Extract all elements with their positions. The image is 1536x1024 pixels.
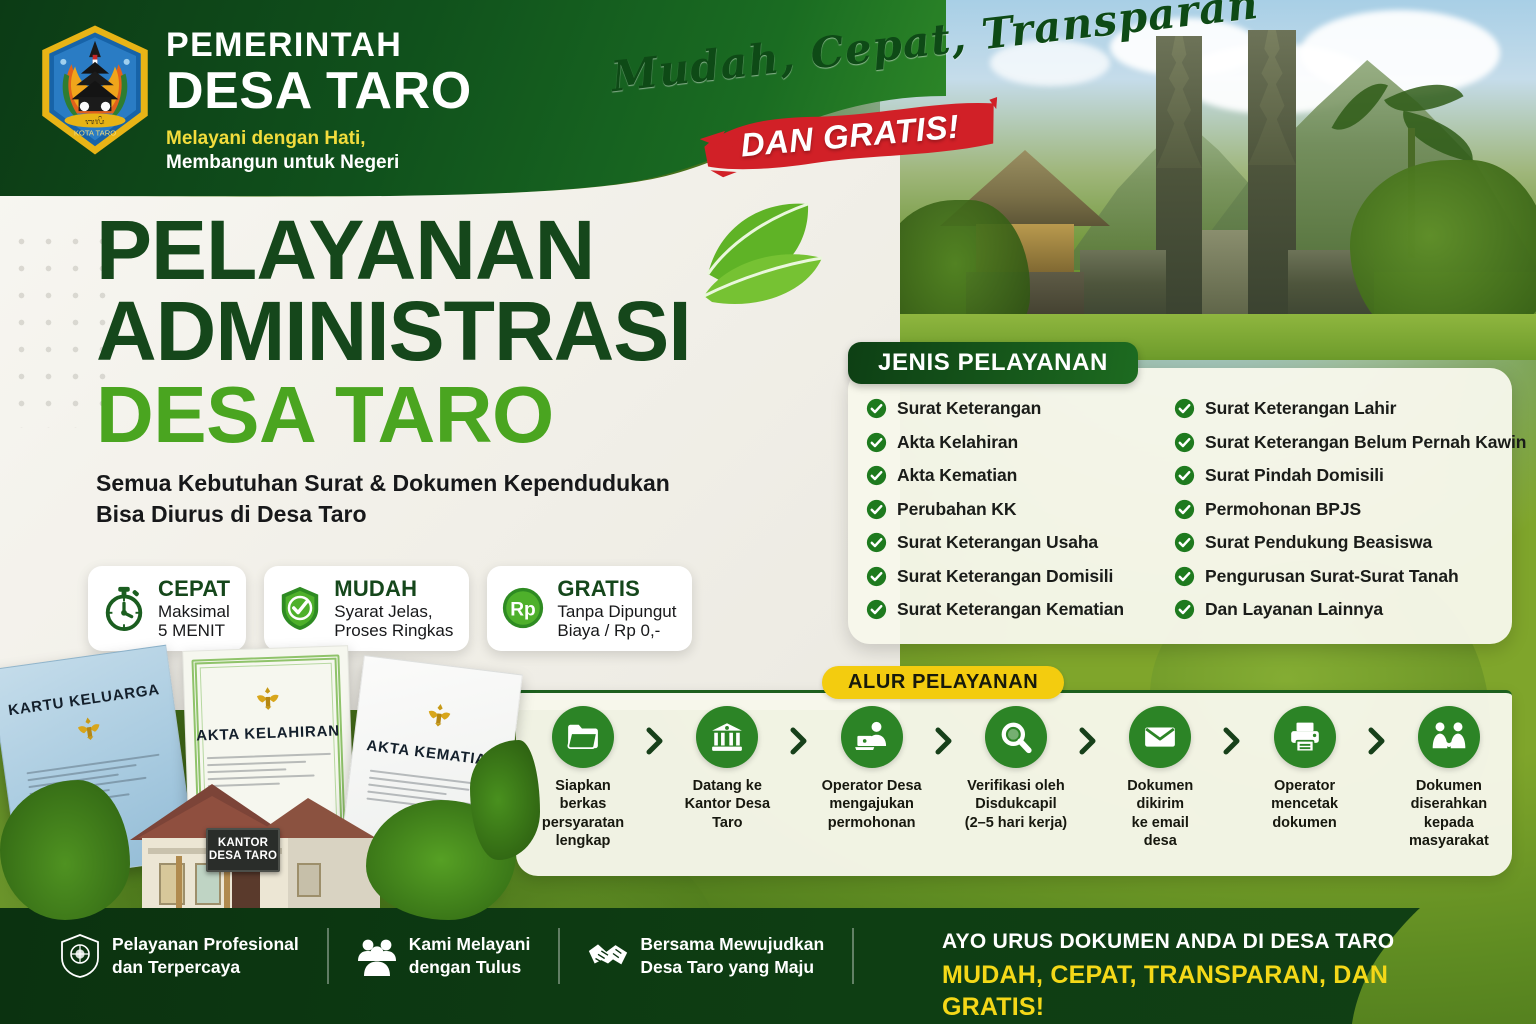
- service-label: Surat Keterangan Kematian: [897, 599, 1124, 620]
- envelope-icon: [1143, 720, 1177, 754]
- service-label: Surat Keterangan Usaha: [897, 532, 1098, 553]
- motto-line-1: Melayani dengan Hati,: [166, 127, 472, 152]
- flow-step-label: Operator Desamengajukanpermohonan: [822, 777, 922, 832]
- trust-line-2: Desa Taro yang Maju: [640, 956, 824, 979]
- service-label: Permohonan BPJS: [1205, 499, 1361, 520]
- trust-line-2: dengan Tulus: [409, 956, 531, 979]
- flow-step-2[interactable]: Datang keKantor DesaTaro: [674, 706, 780, 832]
- subtitle-line-1: Semua Kebutuhan Surat & Dokumen Kependud…: [96, 468, 816, 500]
- service-item[interactable]: Permohonan BPJS: [1174, 493, 1510, 527]
- garuda-icon: [425, 700, 454, 729]
- shield-check-icon: [277, 585, 323, 631]
- flow-step-4[interactable]: Verifikasi olehDisdukcapil(2–5 hari kerj…: [963, 706, 1069, 832]
- stopwatch-icon: [101, 585, 147, 631]
- trust-item-professional: Pelayanan Profesional dan Terpercaya: [60, 933, 327, 980]
- flow-steps: Siapkan berkaspersyaratanlengkap Datang …: [524, 706, 1508, 866]
- flow-step-label: Dokumendiserahkan kepadamasyarakat: [1396, 777, 1502, 850]
- shield-emblem-icon: [60, 934, 100, 978]
- service-label: Pengurusan Surat-Surat Tanah: [1205, 566, 1459, 587]
- trust-item-sincere: Kami Melayani dengan Tulus: [329, 933, 559, 980]
- flow-chevron-icon: [644, 726, 666, 761]
- trust-line-2: dan Terpercaya: [112, 956, 299, 979]
- check-circle-icon: [866, 465, 887, 486]
- service-item[interactable]: Surat Keterangan Belum Pernah Kawin: [1174, 426, 1510, 460]
- svg-text:ᬩᬮᬶ: ᬩᬮᬶ: [85, 116, 105, 126]
- service-item[interactable]: Surat Pindah Domisili: [1174, 459, 1510, 493]
- check-circle-icon: [1174, 532, 1195, 553]
- check-circle-icon: [1174, 432, 1195, 453]
- garuda-icon: [74, 714, 103, 743]
- services-panel-header: JENIS PELAYANAN: [848, 342, 1138, 384]
- service-label: Akta Kematian: [897, 465, 1017, 486]
- poster-root: ᬩᬮᬶ KOTA TARO PEMERINTAH DESA TARO Melay…: [0, 0, 1536, 1024]
- flow-header-label: ALUR PELAYANAN: [848, 671, 1038, 694]
- service-label: Perubahan KK: [897, 499, 1016, 520]
- badge-line-2: Proses Ringkas: [334, 621, 453, 641]
- service-label: Surat Pendukung Beasiswa: [1205, 532, 1432, 553]
- flow-step-label: Siapkan berkaspersyaratanlengkap: [530, 777, 636, 850]
- office-sign-line-1: KANTOR: [218, 837, 268, 850]
- flow-chevron-icon: [1077, 726, 1099, 761]
- motto-line-2: Membangun untuk Negeri: [166, 151, 472, 176]
- service-item[interactable]: Akta Kematian: [866, 459, 1166, 493]
- check-circle-icon: [866, 432, 887, 453]
- badge-gratis[interactable]: Rp GRATIS Tanpa Dipungut Biaya / Rp 0,-: [487, 566, 692, 651]
- leaf-decoration: [690, 198, 840, 318]
- footer-cta: AYO URUS DOKUMEN ANDA DI DESA TARO MUDAH…: [942, 928, 1412, 1023]
- badge-line-2: 5 MENIT: [158, 621, 230, 641]
- flow-chevron-icon: [1221, 726, 1243, 761]
- title-line-3: DESA TARO: [96, 377, 816, 452]
- service-label: Surat Keterangan Belum Pernah Kawin: [1205, 432, 1526, 453]
- cta-line-2: MUDAH, CEPAT, TRANSPARAN, DAN GRATIS!: [942, 959, 1412, 1023]
- flow-step-3[interactable]: Operator Desamengajukanpermohonan: [819, 706, 925, 832]
- government-title-block: PEMERINTAH DESA TARO Melayani dengan Hat…: [166, 28, 472, 176]
- service-label: Akta Kelahiran: [897, 432, 1018, 453]
- flow-step-1[interactable]: Siapkan berkaspersyaratanlengkap: [530, 706, 636, 850]
- check-circle-icon: [1174, 398, 1195, 419]
- footer-divider: [852, 928, 854, 984]
- badge-mudah[interactable]: MUDAH Syarat Jelas, Proses Ringkas: [264, 566, 469, 651]
- badge-title: CEPAT: [158, 576, 230, 602]
- check-circle-icon: [1174, 499, 1195, 520]
- service-label: Surat Pindah Domisili: [1205, 465, 1384, 486]
- flow-step-7[interactable]: Dokumendiserahkan kepadamasyarakat: [1396, 706, 1502, 850]
- trust-line-1: Pelayanan Profesional: [112, 933, 299, 956]
- badge-line-1: Syarat Jelas,: [334, 602, 453, 622]
- flow-panel-header: ALUR PELAYANAN: [822, 666, 1064, 699]
- services-list: Surat Keterangan Surat Keterangan Lahir …: [866, 392, 1502, 627]
- trust-line-1: Bersama Mewujudkan: [640, 933, 824, 956]
- flow-step-label: Dokumen dikirimke emaildesa: [1107, 777, 1213, 850]
- badge-line-2: Biaya / Rp 0,-: [557, 621, 676, 641]
- feature-badges: CEPAT Maksimal 5 MENIT MUDAH Syarat Jela…: [88, 566, 692, 651]
- service-label: Surat Keterangan Domisili: [897, 566, 1113, 587]
- flow-chevron-icon: [788, 726, 810, 761]
- badge-title: MUDAH: [334, 576, 453, 602]
- printer-icon: [1288, 720, 1322, 754]
- gov-name-desa-taro: DESA TARO: [166, 64, 472, 119]
- service-item[interactable]: Pengurusan Surat-Surat Tanah: [1174, 560, 1510, 594]
- service-label: Dan Layanan Lainnya: [1205, 599, 1383, 620]
- emblem-icon: ᬩᬮᬶ KOTA TARO: [36, 22, 154, 158]
- service-item[interactable]: Surat Pendukung Beasiswa: [1174, 526, 1510, 560]
- operator-laptop-icon: [854, 719, 890, 755]
- service-item[interactable]: Surat Keterangan Kematian: [866, 593, 1166, 627]
- flow-step-5[interactable]: Dokumen dikirimke emaildesa: [1107, 706, 1213, 850]
- check-circle-icon: [1174, 599, 1195, 620]
- flow-step-6[interactable]: Operatormencetakdokumen: [1252, 706, 1358, 832]
- service-item[interactable]: Surat Keterangan Lahir: [1174, 392, 1510, 426]
- svg-text:KOTA TARO: KOTA TARO: [74, 129, 116, 138]
- foreground-plant: [470, 740, 540, 860]
- service-item[interactable]: Surat Keterangan Domisili: [866, 560, 1166, 594]
- check-circle-icon: [866, 499, 887, 520]
- handshake-people-icon: [1431, 719, 1467, 755]
- magnifier-icon: [999, 720, 1033, 754]
- badge-title: GRATIS: [557, 576, 676, 602]
- service-label: Surat Keterangan: [897, 398, 1041, 419]
- gianyar-regency-emblem: ᬩᬮᬶ KOTA TARO: [36, 22, 154, 158]
- flow-step-label: Datang keKantor DesaTaro: [685, 777, 770, 832]
- service-label: Surat Keterangan Lahir: [1205, 398, 1396, 419]
- trust-item-together: Bersama Mewujudkan Desa Taro yang Maju: [560, 933, 852, 980]
- flow-chevron-icon: [1366, 726, 1388, 761]
- badge-line-1: Tanpa Dipungut: [557, 602, 676, 622]
- office-sign: KANTOR DESA TARO: [206, 828, 280, 872]
- garuda-icon: [254, 685, 281, 712]
- flow-chevron-icon: [933, 726, 955, 761]
- handshake-icon: [588, 934, 628, 978]
- people-group-icon: [357, 934, 397, 978]
- gov-label-pemerintah: PEMERINTAH: [166, 28, 472, 62]
- office-sign-line-2: DESA TARO: [209, 850, 277, 863]
- cta-line-1: AYO URUS DOKUMEN ANDA DI DESA TARO: [942, 928, 1412, 955]
- check-circle-icon: [1174, 465, 1195, 486]
- badge-line-1: Maksimal: [158, 602, 230, 622]
- footer-trust-row: Pelayanan Profesional dan Terpercaya Kam…: [60, 928, 854, 984]
- check-circle-icon: [866, 532, 887, 553]
- flow-step-label: Verifikasi olehDisdukcapil(2–5 hari kerj…: [965, 777, 1067, 832]
- folder-icon: [566, 720, 600, 754]
- flow-step-label: Operatormencetakdokumen: [1271, 777, 1338, 832]
- subtitle-line-2: Bisa Diurus di Desa Taro: [96, 499, 816, 531]
- check-circle-icon: [866, 566, 887, 587]
- check-circle-icon: [866, 599, 887, 620]
- service-item[interactable]: Dan Layanan Lainnya: [1174, 593, 1510, 627]
- service-item[interactable]: Surat Keterangan Usaha: [866, 526, 1166, 560]
- government-building-icon: [710, 720, 744, 754]
- badge-cepat[interactable]: CEPAT Maksimal 5 MENIT: [88, 566, 246, 651]
- trust-line-1: Kami Melayani: [409, 933, 531, 956]
- service-item[interactable]: Surat Keterangan: [866, 392, 1166, 426]
- service-item[interactable]: Perubahan KK: [866, 493, 1166, 527]
- check-circle-icon: [1174, 566, 1195, 587]
- services-header-label: JENIS PELAYANAN: [878, 349, 1108, 377]
- leaf-icon: [690, 198, 840, 318]
- svg-text:Rp: Rp: [511, 600, 537, 621]
- service-item[interactable]: Akta Kelahiran: [866, 426, 1166, 460]
- rupiah-circle-icon: Rp: [500, 585, 546, 631]
- check-circle-icon: [866, 398, 887, 419]
